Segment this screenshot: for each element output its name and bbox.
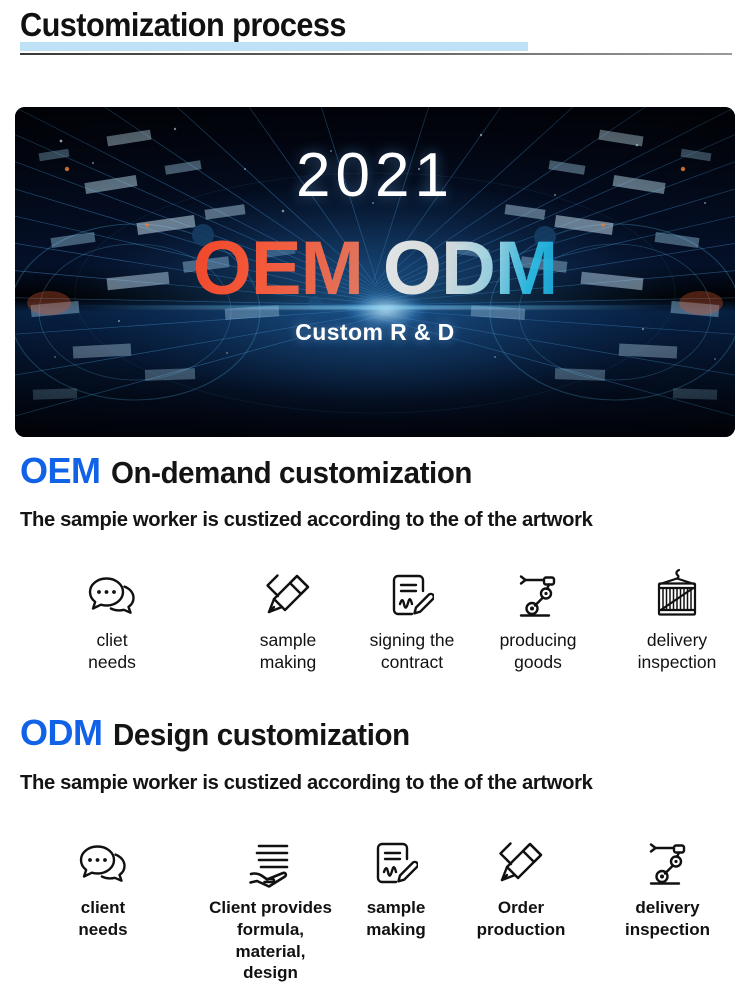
banner-logo-oem: OEM [193,231,363,307]
title-underline-bar [20,42,528,51]
banner-text-stack: 2021 OEM ODM Custom R & D [15,107,735,437]
odm-step-4: Orderproduction [457,834,585,984]
robot-arm-icon [513,566,563,620]
pencil-ruler-icon [264,566,312,620]
section-heading-oem: OEMOn-demand customization [20,450,491,492]
oem-step-5-label: deliveryinspection [638,629,717,674]
chat-bubbles-icon [77,834,129,888]
odm-step-3: samplemaking [335,834,457,984]
shipping-crate-icon [652,566,702,620]
odm-step-4-label: Orderproduction [477,897,566,941]
section-subtitle-odm: The sampie worker is custized according … [20,771,593,795]
oem-step-2-label: samplemaking [260,629,316,674]
oem-step-2: samplemaking [224,566,352,674]
chat-bubbles-icon [86,566,138,620]
oem-steps-row: clietneeds [0,566,750,674]
hero-banner: 2021 OEM ODM Custom R & D [15,107,735,437]
odm-step-2-label: Client providesformula,material,design [209,897,332,984]
odm-step-1-label: clientneeds [78,897,127,941]
section-title-oem: On-demand customization [111,455,472,491]
banner-logo: OEM ODM [193,231,557,307]
signed-document-icon [374,834,418,888]
pencil-ruler-icon [497,834,545,888]
page-title: Customization process [20,6,346,44]
odm-steps-row: clientneeds Client providesformula,mater… [0,834,750,984]
section-tag-odm: ODM [20,712,103,753]
hand-documents-icon [245,834,297,888]
odm-step-5: deliveryinspection [585,834,750,984]
header-divider-rule [20,53,732,55]
oem-step-1-label: clietneeds [88,629,136,674]
banner-subtitle: Custom R & D [295,319,454,346]
robot-arm-icon [643,834,693,888]
section-heading-odm: ODMDesign customization [20,712,425,754]
oem-step-3: signing thecontract [352,566,472,674]
section-subtitle-oem: The sampie worker is custized according … [20,508,593,532]
customization-process-page: Customization process [0,0,750,996]
oem-step-1: clietneeds [0,566,224,674]
odm-step-5-label: deliveryinspection [625,897,710,941]
odm-step-1: clientneeds [0,834,206,984]
odm-step-2: Client providesformula,material,design [206,834,335,984]
oem-step-5: deliveryinspection [604,566,750,674]
banner-year: 2021 [296,145,454,207]
signed-document-icon [390,566,434,620]
section-tag-oem: OEM [20,450,101,491]
banner-logo-odm: ODM [383,231,557,307]
odm-step-3-label: samplemaking [366,897,426,941]
oem-step-4: producinggoods [472,566,604,674]
oem-step-3-label: signing thecontract [370,629,455,674]
oem-step-4-label: producinggoods [500,629,577,674]
section-title-odm: Design customization [113,717,410,753]
